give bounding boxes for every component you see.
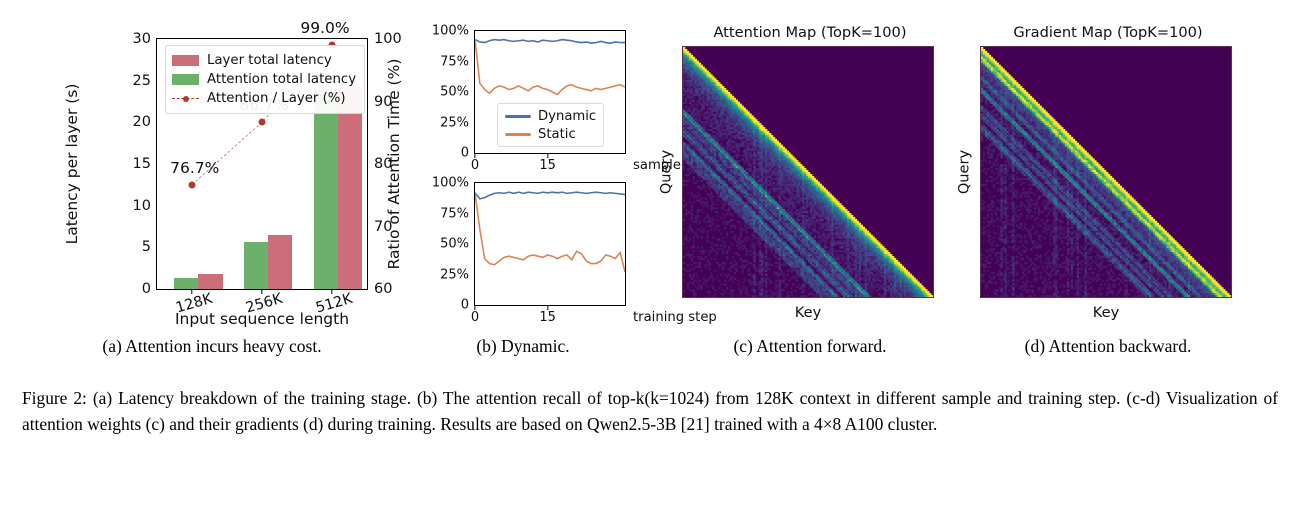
panel-b-bottom-lines: [475, 183, 625, 305]
panel-a-ytick: 0: [142, 281, 151, 297]
subcaption-a: (a) Attention incurs heavy cost.: [42, 336, 382, 357]
panel-d-x-axis-label: Key: [1093, 304, 1119, 321]
panel-b-top-ytick: 50%: [440, 85, 469, 100]
panel-b-top-ytick: 100%: [432, 24, 469, 39]
panel-a-ytick: 15: [133, 156, 151, 172]
legend-line-dynamic: [505, 115, 531, 118]
legend-line-static: [505, 133, 531, 136]
legend-item-static: Static: [505, 125, 596, 143]
panel-a-ytick: 30: [133, 31, 151, 47]
subcaption-b: (b) Dynamic.: [398, 336, 648, 357]
panel-b-bottom-ytick: 50%: [440, 237, 469, 252]
legend-item-ratio: Attention / Layer (%): [172, 89, 356, 108]
panel-a-y2tick: 100: [374, 31, 402, 47]
subcaption-c: (c) Attention forward.: [660, 336, 960, 357]
panel-a-ytick: 10: [133, 198, 151, 214]
legend-label: Attention / Layer (%): [207, 91, 346, 106]
figure-caption: Figure 2: (a) Latency breakdown of the t…: [22, 386, 1278, 437]
legend-item-layer-latency: Layer total latency: [172, 51, 356, 70]
legend-label: Dynamic: [538, 109, 596, 124]
panel-b-top-ytick: 75%: [440, 54, 469, 69]
panel-c-title: Attention Map (TopK=100): [713, 24, 906, 41]
legend-label: Static: [538, 127, 576, 142]
legend-swatch-green: [172, 74, 199, 85]
panel-a-y-axis-label: Latency per layer (s): [63, 84, 81, 245]
panel-b-bottom-xtick-15: 15: [539, 310, 556, 325]
panel-d-heatmap: [980, 46, 1232, 298]
legend-item-dynamic: Dynamic: [505, 107, 596, 125]
panel-b-bottom-plot-area: 0 25% 50% 75% 100% 0 15 training step: [474, 182, 626, 306]
panel-a-ytick: 25: [133, 73, 151, 89]
panel-a-y2tick: 80: [374, 156, 392, 172]
legend-line-dashed-marker: [172, 93, 199, 104]
panel-b-bottom-xtick-0: 0: [471, 310, 479, 325]
legend-item-attention-latency: Attention total latency: [172, 70, 356, 89]
legend-label: Attention total latency: [207, 72, 356, 87]
panel-c-y-axis-label: Query: [658, 150, 675, 194]
figure-2: Latency per layer (s) Ratio of Attention…: [0, 0, 1299, 509]
ratio-point-128k: [189, 181, 196, 188]
panel-b-recall-charts: 0 25% 50% 75% 100% 0 15 sample index Dyn…: [408, 22, 648, 324]
panel-b-top-ytick: 25%: [440, 115, 469, 130]
panel-c-heatmap: [682, 46, 934, 298]
panel-b-bottom-ytick: 25%: [440, 267, 469, 282]
panel-c-x-axis-label: Key: [795, 304, 821, 321]
panel-b-top-plot-area: 0 25% 50% 75% 100% 0 15 sample index Dyn…: [474, 30, 626, 154]
legend-label: Layer total latency: [207, 53, 332, 68]
panel-a-y2tick: 90: [374, 94, 392, 110]
panel-a-ytick: 5: [142, 239, 151, 255]
panel-a-legend: Layer total latency Attention total late…: [165, 45, 365, 114]
panel-a-y2tick: 60: [374, 281, 392, 297]
panel-a-ytick: 20: [133, 114, 151, 130]
subcaption-d: (d) Attention backward.: [958, 336, 1258, 357]
panel-d-gradient-map: Gradient Map (TopK=100) Query Key: [958, 24, 1258, 324]
panel-a-plot-area: 0 5 10 15 20 25 30 60 70 80 90 100: [156, 38, 368, 290]
panel-b-bottom-ytick: 100%: [432, 176, 469, 191]
panel-d-y-axis-label: Query: [956, 150, 973, 194]
ratio-label-128k: 76.7%: [170, 159, 219, 177]
panel-b-bottom-ytick: 0: [461, 298, 469, 313]
panel-b-top-xtick-0: 0: [471, 158, 479, 173]
panel-d-title: Gradient Map (TopK=100): [1013, 24, 1202, 41]
panel-a-latency-chart: Latency per layer (s) Ratio of Attention…: [62, 24, 402, 324]
panel-b-top-ytick: 0: [461, 146, 469, 161]
panel-b-legend: Dynamic Static: [497, 103, 604, 147]
panel-a-y2tick: 70: [374, 219, 392, 235]
panel-c-attention-map: Attention Map (TopK=100) Query Key: [660, 24, 960, 324]
panel-b-top-xtick-15: 15: [539, 158, 556, 173]
legend-swatch-red: [172, 55, 199, 66]
panel-b-bottom-ytick: 75%: [440, 206, 469, 221]
ratio-point-256k: [259, 119, 266, 126]
ratio-label-512k: 99.0%: [300, 19, 349, 37]
